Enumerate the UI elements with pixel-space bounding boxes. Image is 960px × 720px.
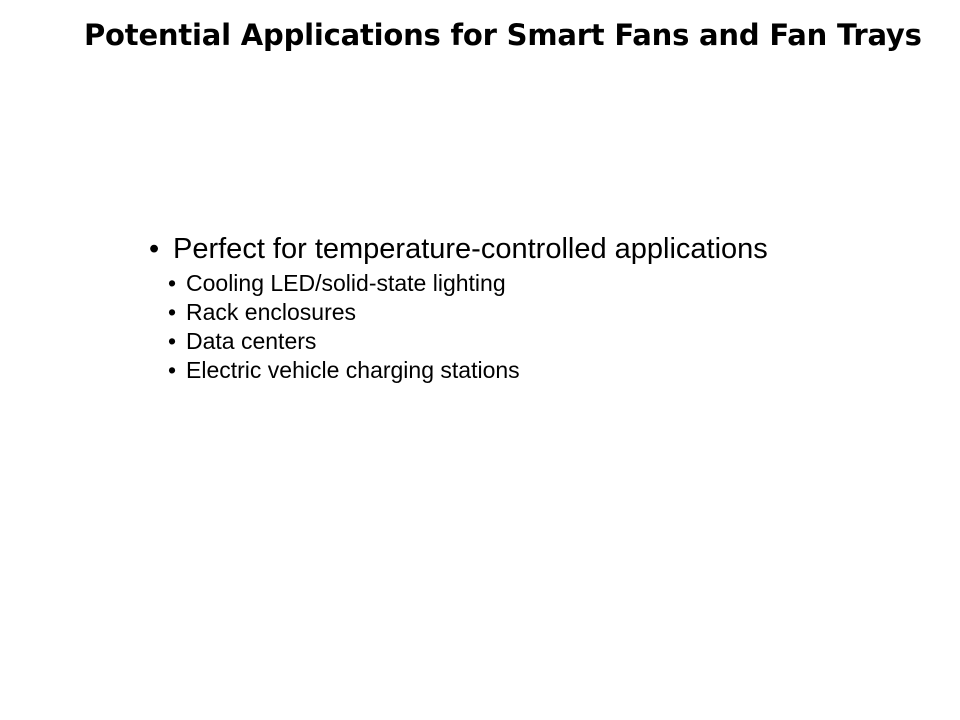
slide-canvas: Potential Applications for Smart Fans an… [0,0,960,720]
bullet-text-level-2: Cooling LED/solid-state lighting [186,270,506,296]
slide-body: • Perfect for temperature-controlled app… [140,232,900,385]
bullet-dot-icon: • [168,327,176,356]
bullet-item-level-2: • Cooling LED/solid-state lighting [163,269,900,298]
bullet-text-level-2: Data centers [186,328,316,354]
bullet-dot-icon: • [149,232,159,267]
bullet-text-level-2: Rack enclosures [186,299,356,325]
bullet-item-level-2: • Data centers [163,327,900,356]
bullet-item-level-1: • Perfect for temperature-controlled app… [140,232,900,267]
bullet-item-level-2: • Rack enclosures [163,298,900,327]
bullet-dot-icon: • [168,269,176,298]
bullet-text-level-2: Electric vehicle charging stations [186,357,520,383]
bullet-text-level-1: Perfect for temperature-controlled appli… [173,233,768,265]
bullet-dot-icon: • [168,356,176,385]
bullet-list-level-2: • Cooling LED/solid-state lighting • Rac… [140,269,900,385]
bullet-dot-icon: • [168,298,176,327]
bullet-list-level-1: • Perfect for temperature-controlled app… [140,232,900,267]
bullet-item-level-2: • Electric vehicle charging stations [163,356,900,385]
page-title: Potential Applications for Smart Fans an… [84,18,894,52]
